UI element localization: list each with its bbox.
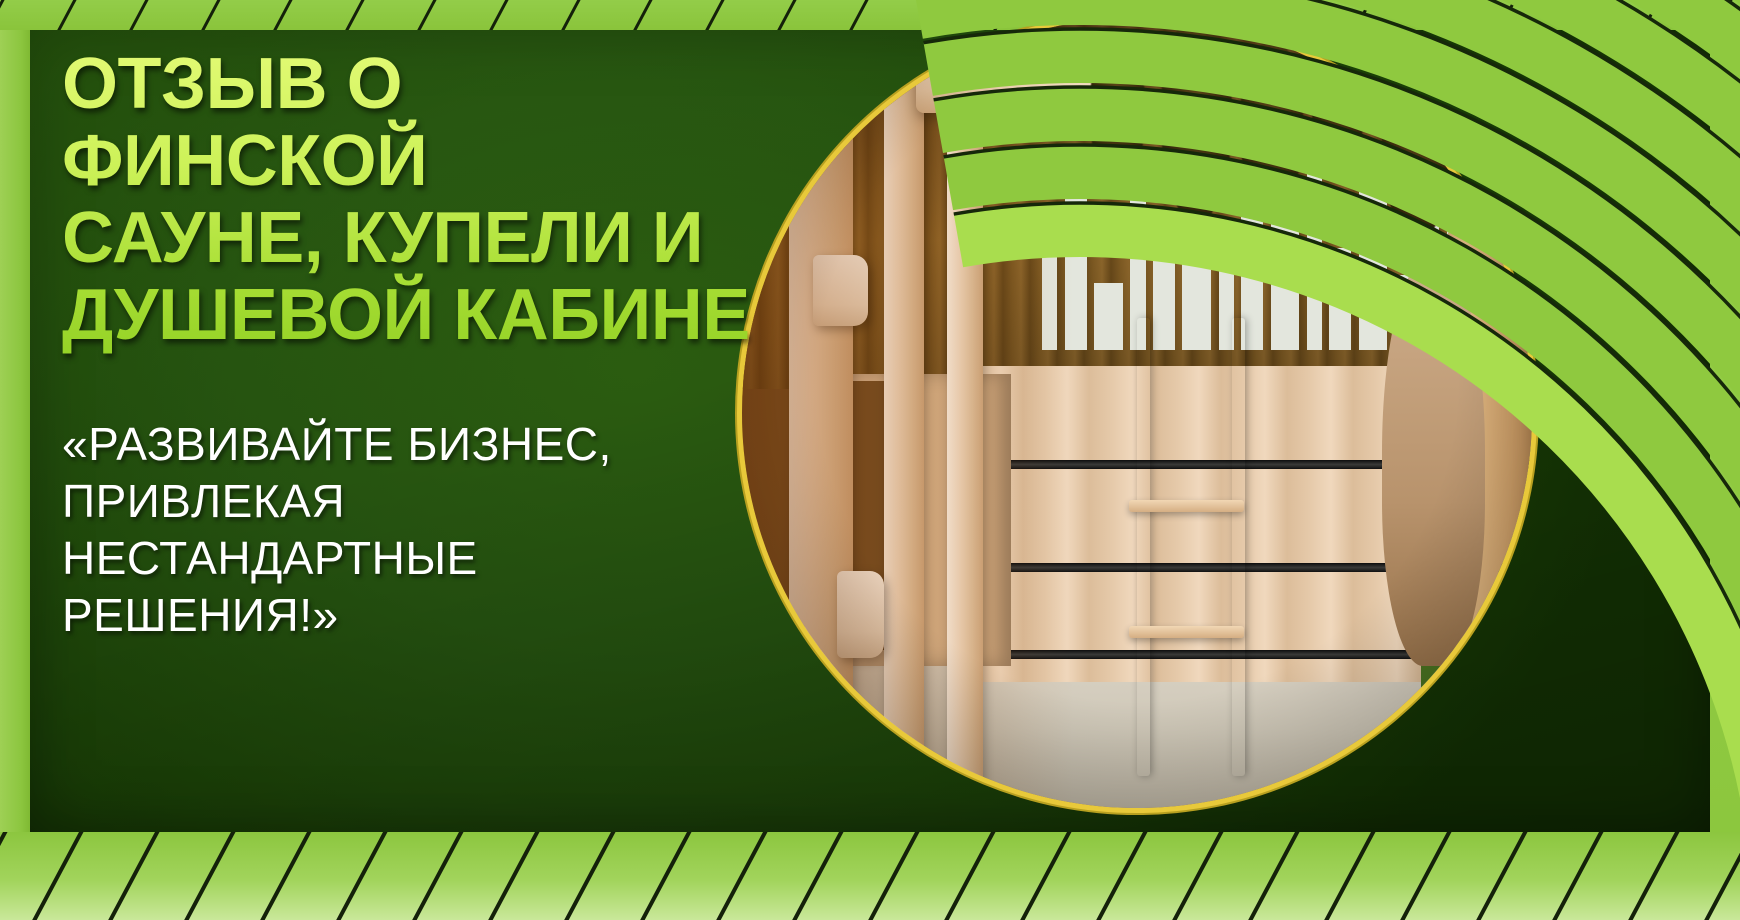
bottom-slash-band: [0, 832, 1740, 920]
slash-mark: [848, 832, 931, 920]
subhead-line-2: ПРИВЛЕКАЯ: [62, 473, 782, 530]
slash-mark: [620, 832, 703, 920]
slash-mark: [88, 832, 171, 920]
headline-line-2: САУНЕ, КУПЕЛИ И: [62, 200, 782, 277]
slash-mark: [158, 0, 231, 30]
left-accent-band: [0, 0, 30, 920]
headline-line-1: ОТЗЫВ О ФИНСКОЙ: [62, 46, 782, 200]
sauna-photo-image: [742, 18, 1532, 808]
page-title: ОТЗЫВ О ФИНСКОЙ САУНЕ, КУПЕЛИ И ДУШЕВОЙ …: [62, 46, 782, 354]
page-subtitle: «РАЗВИВАЙТЕ БИЗНЕС, ПРИВЛЕКАЯ НЕСТАНДАРТ…: [62, 416, 782, 644]
slash-mark: [1598, 0, 1671, 30]
subhead-line-4: РЕШЕНИЯ!»: [62, 587, 782, 644]
slash-mark: [164, 832, 247, 920]
slash-mark: [662, 0, 735, 30]
slash-mark: [1670, 0, 1740, 30]
slash-mark: [1304, 832, 1387, 920]
photo-herb-bundle: [1090, 34, 1145, 192]
slash-mark: [230, 0, 303, 30]
slash-mark: [590, 0, 663, 30]
subhead-line-3: НЕСТАНДАРТНЫЕ: [62, 530, 782, 587]
photo-herb-bundle: [1311, 26, 1366, 168]
slash-mark: [1152, 832, 1235, 920]
slash-mark: [446, 0, 519, 30]
slash-mark: [86, 0, 159, 30]
slash-mark: [1608, 832, 1691, 920]
slash-mark: [302, 0, 375, 30]
slash-mark: [1228, 832, 1311, 920]
slash-mark: [0, 832, 20, 920]
headline-line-3: ДУШЕВОЙ КАБИНЕ: [62, 277, 782, 354]
slash-mark: [544, 832, 627, 920]
slash-mark: [924, 832, 1007, 920]
slash-mark: [468, 832, 551, 920]
slash-mark: [316, 832, 399, 920]
photo-herb-bundle: [1382, 50, 1453, 240]
subhead-line-1: «РАЗВИВАЙТЕ БИЗНЕС,: [62, 416, 782, 473]
slash-mark: [1684, 832, 1740, 920]
slash-mark: [0, 0, 15, 30]
slash-mark: [1532, 832, 1615, 920]
slash-mark: [1000, 832, 1083, 920]
slash-mark: [1526, 0, 1599, 30]
slash-mark: [12, 832, 95, 920]
slash-mark: [1076, 832, 1159, 920]
slash-mark: [14, 0, 87, 30]
slash-mark: [1380, 832, 1463, 920]
slash-mark: [696, 832, 779, 920]
slash-mark: [518, 0, 591, 30]
sauna-photo: [742, 18, 1532, 808]
slash-mark: [374, 0, 447, 30]
photo-herb-bundle: [1161, 18, 1232, 223]
slash-mark: [1456, 832, 1539, 920]
promo-banner: ОТЗЫВ О ФИНСКОЙ САУНЕ, КУПЕЛИ И ДУШЕВОЙ …: [0, 0, 1740, 920]
photo-herb-bundle: [1240, 42, 1303, 216]
slash-mark: [772, 832, 855, 920]
text-column: ОТЗЫВ О ФИНСКОЙ САУНЕ, КУПЕЛИ И ДУШЕВОЙ …: [62, 46, 782, 644]
slash-mark: [240, 832, 323, 920]
slash-mark: [392, 832, 475, 920]
